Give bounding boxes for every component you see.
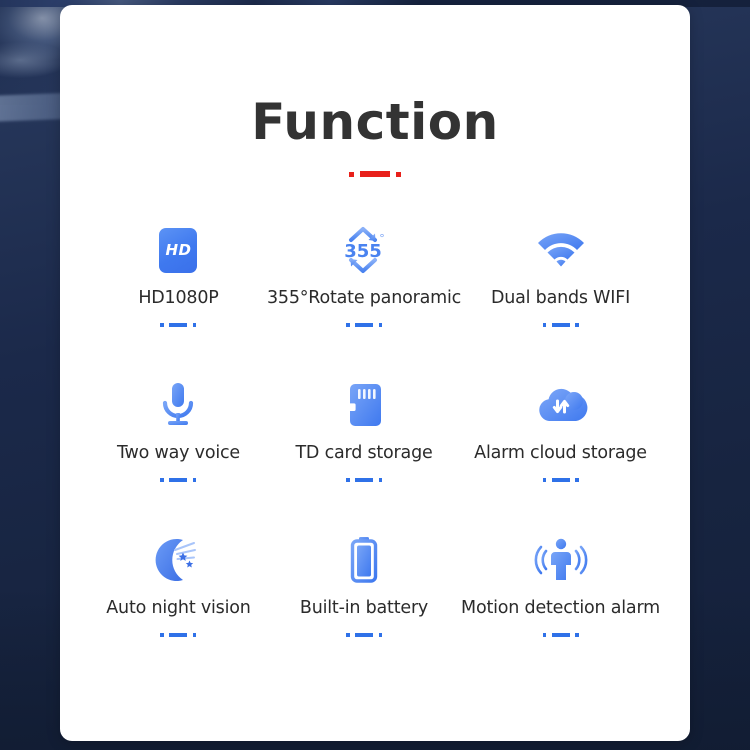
feature-divider	[543, 633, 579, 637]
divider-dash	[355, 323, 373, 327]
divider-dot-right	[575, 323, 579, 327]
divider-dot-left	[346, 633, 350, 637]
divider-dot-left	[543, 478, 547, 482]
title-block: Function	[60, 97, 690, 177]
feature-label: Built-in battery	[300, 598, 428, 618]
divider-dot-right	[379, 478, 383, 482]
divider-dot-left	[160, 323, 164, 327]
feature-item-two-way-voice: Two way voice	[90, 376, 267, 531]
feature-item-motion-detection-alarm: Motion detection alarm	[461, 531, 660, 686]
feature-divider	[160, 633, 196, 637]
motion-person-alarm-icon	[533, 531, 589, 589]
feature-label: TD card storage	[295, 443, 432, 463]
accent-dash	[360, 171, 390, 177]
divider-dot-right	[193, 478, 197, 482]
feature-label: Alarm cloud storage	[474, 443, 647, 463]
title-accent-rule	[349, 171, 401, 177]
divider-dot-right	[575, 478, 579, 482]
divider-dash	[552, 323, 570, 327]
page-title: Function	[60, 97, 690, 147]
feature-label: Auto night vision	[106, 598, 250, 618]
feature-item-dual-band-wifi: Dual bands WIFI	[461, 221, 660, 376]
svg-text:355: 355	[344, 241, 382, 262]
feature-grid: HD HD1080P	[60, 221, 690, 686]
accent-dot-left	[349, 172, 354, 177]
divider-dash	[552, 633, 570, 637]
sd-card-icon	[343, 376, 385, 434]
divider-dash	[169, 478, 187, 482]
feature-label: 355°Rotate panoramic	[267, 288, 461, 308]
battery-icon	[346, 531, 382, 589]
divider-dot-left	[346, 478, 350, 482]
divider-dot-right	[575, 633, 579, 637]
divider-dash	[169, 323, 187, 327]
feature-label: Two way voice	[117, 443, 240, 463]
divider-dot-left	[543, 633, 547, 637]
rotate-355-icon: 355 °	[336, 221, 392, 279]
accent-dot-right	[396, 172, 401, 177]
feature-divider	[346, 478, 382, 482]
microphone-icon	[157, 376, 199, 434]
divider-dot-right	[379, 633, 383, 637]
feature-divider	[543, 323, 579, 327]
feature-divider	[160, 323, 196, 327]
feature-item-hd1080p: HD HD1080P	[90, 221, 267, 376]
feature-divider	[346, 633, 382, 637]
moon-night-vision-icon	[153, 531, 203, 589]
feature-item-td-card-storage: TD card storage	[267, 376, 461, 531]
feature-divider	[160, 478, 196, 482]
divider-dot-left	[160, 478, 164, 482]
cloud-upload-download-icon	[533, 376, 589, 434]
divider-dash	[355, 478, 373, 482]
feature-label: Dual bands WIFI	[491, 288, 630, 308]
divider-dot-left	[346, 323, 350, 327]
feature-item-alarm-cloud-storage: Alarm cloud storage	[461, 376, 660, 531]
wifi-icon	[534, 221, 588, 279]
divider-dash	[355, 633, 373, 637]
divider-dot-right	[379, 323, 383, 327]
hd-badge-icon: HD	[159, 221, 197, 279]
feature-label: HD1080P	[138, 288, 218, 308]
divider-dot-left	[543, 323, 547, 327]
divider-dash	[552, 478, 570, 482]
divider-dot-left	[160, 633, 164, 637]
divider-dot-right	[193, 323, 197, 327]
feature-divider	[543, 478, 579, 482]
feature-card: Function HD HD1080P	[60, 5, 690, 741]
divider-dot-right	[193, 633, 197, 637]
feature-item-rotate-panoramic: 355 ° 355°Rotate panoramic	[267, 221, 461, 376]
feature-item-auto-night-vision: Auto night vision	[90, 531, 267, 686]
feature-divider	[346, 323, 382, 327]
svg-text:°: °	[379, 232, 385, 245]
feature-label: Motion detection alarm	[461, 598, 660, 618]
feature-item-built-in-battery: Built-in battery	[267, 531, 461, 686]
hd-badge-label: HD	[159, 228, 197, 273]
divider-dash	[169, 633, 187, 637]
